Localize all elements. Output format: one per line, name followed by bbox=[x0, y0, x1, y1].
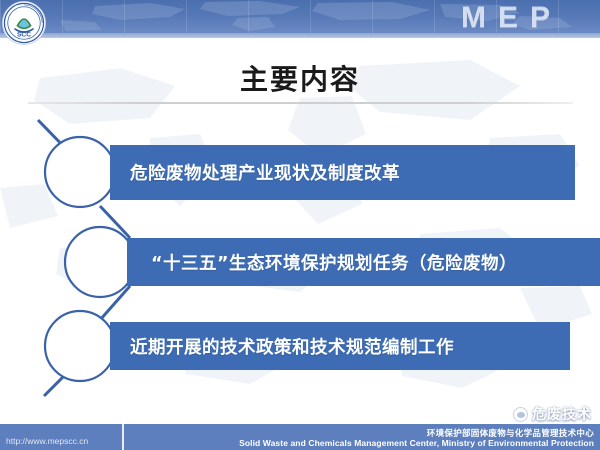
content-item-bar-1[interactable]: 危险废物处理产业现状及制度改革 bbox=[110, 145, 575, 200]
presentation-slide: MEP SCC 主 bbox=[0, 0, 600, 450]
chain-node-circle-3 bbox=[45, 311, 115, 381]
channel-watermark: 危废技术 bbox=[513, 404, 592, 424]
content-item-bar-3[interactable]: 近期开展的技术政策和技术规范编制工作 bbox=[110, 322, 570, 370]
footer-website-url[interactable]: http://www.mepscc.cn bbox=[6, 436, 88, 446]
footer-org-name-en: Solid Waste and Chemicals Management Cen… bbox=[239, 438, 594, 448]
mep-wordmark: MEP bbox=[461, 1, 562, 33]
chain-node-circle-2 bbox=[65, 227, 135, 297]
header-banner: MEP bbox=[0, 0, 600, 33]
watermark-label: 危废技术 bbox=[532, 404, 592, 424]
content-item-label-3: 近期开展的技术政策和技术规范编制工作 bbox=[130, 334, 454, 359]
content-item-label-1: 危险废物处理产业现状及制度改革 bbox=[130, 160, 400, 185]
watermark-avatar-icon bbox=[513, 407, 528, 422]
content-item-label-2: “十三五”生态环境保护规划任务（危险废物） bbox=[151, 250, 517, 275]
chain-node-circle-1 bbox=[45, 137, 115, 207]
content-item-bar-2[interactable]: “十三五”生态环境保护规划任务（危险废物） bbox=[127, 238, 600, 286]
footer-divider bbox=[122, 424, 124, 450]
